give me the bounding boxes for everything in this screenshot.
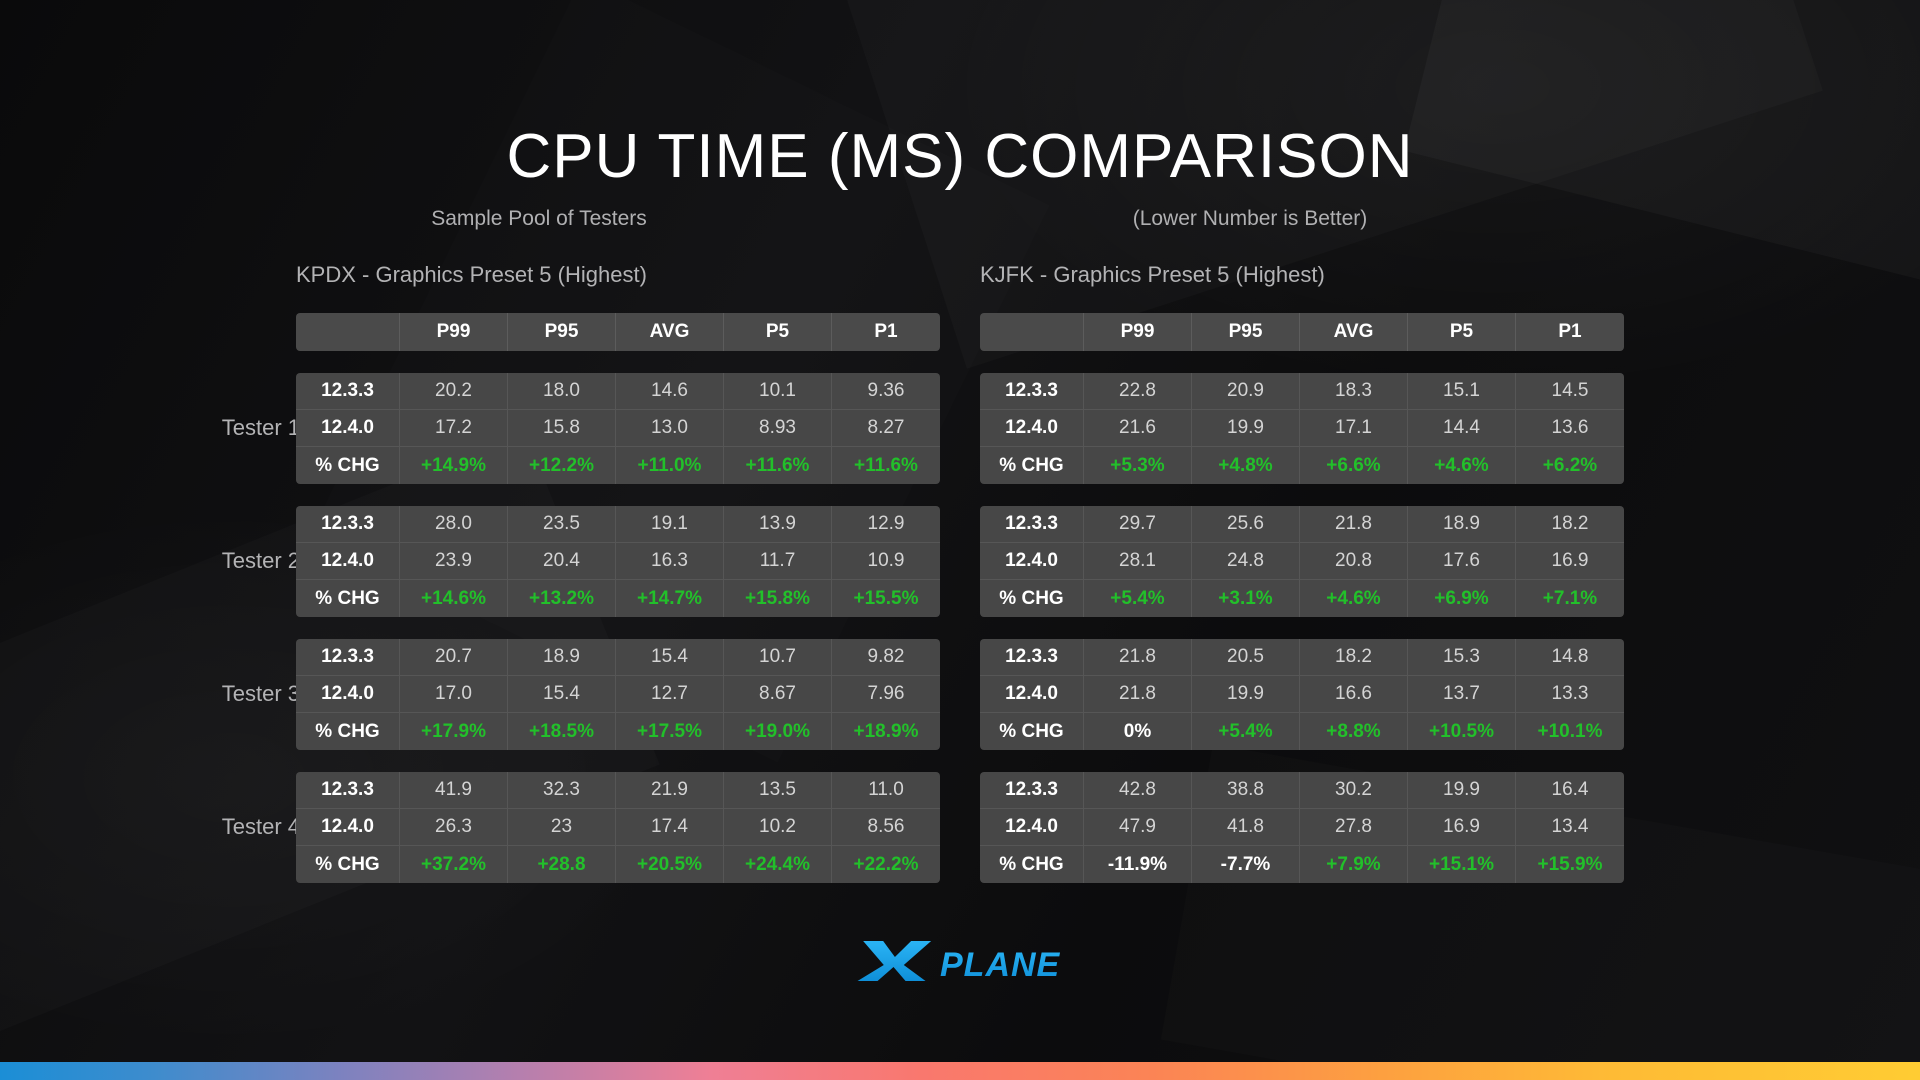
cell-chg-p1: +6.2% — [1516, 447, 1624, 484]
tester-block-1: 12.3.322.820.918.315.114.512.4.021.619.9… — [980, 373, 1624, 484]
cell-old-p5: 13.9 — [724, 506, 832, 543]
column-header-avg: AVG — [1300, 313, 1408, 351]
cell-old-avg: 18.2 — [1300, 639, 1408, 676]
row-label-chg: % CHG — [296, 447, 400, 484]
tester-block-4: 12.3.342.838.830.219.916.412.4.047.941.8… — [980, 772, 1624, 883]
cell-chg-p95: +4.8% — [1192, 447, 1300, 484]
cell-new-p1: 10.9 — [832, 543, 940, 580]
row-label-chg: % CHG — [296, 846, 400, 883]
cell-new-p99: 21.8 — [1084, 676, 1192, 713]
cell-new-p1: 16.9 — [1516, 543, 1624, 580]
table-row: % CHG+14.6%+13.2%+14.7%+15.8%+15.5% — [296, 580, 940, 617]
table-row: % CHG+37.2%+28.8+20.5%+24.4%+22.2% — [296, 846, 940, 883]
cell-chg-p95: +18.5% — [508, 713, 616, 750]
cell-chg-p99: +5.3% — [1084, 447, 1192, 484]
row-label-old: 12.3.3 — [296, 373, 400, 410]
cell-old-p99: 41.9 — [400, 772, 508, 809]
column-header-row: P99P95AVGP5P1 — [296, 313, 940, 351]
table-row: 12.4.023.920.416.311.710.9 — [296, 543, 940, 580]
cell-chg-avg: +14.7% — [616, 580, 724, 617]
cell-chg-p95: -7.7% — [1192, 846, 1300, 883]
row-label-new: 12.4.0 — [980, 676, 1084, 713]
column-header-p5: P5 — [724, 313, 832, 351]
cell-old-p95: 38.8 — [1192, 772, 1300, 809]
table-row: % CHG+17.9%+18.5%+17.5%+19.0%+18.9% — [296, 713, 940, 750]
column-header-avg: AVG — [616, 313, 724, 351]
tester-block-2: 12.3.329.725.621.818.918.212.4.028.124.8… — [980, 506, 1624, 617]
table-row: % CHG+5.3%+4.8%+6.6%+4.6%+6.2% — [980, 447, 1624, 484]
cell-new-p95: 24.8 — [1192, 543, 1300, 580]
cell-chg-p95: +12.2% — [508, 447, 616, 484]
cell-old-avg: 21.8 — [1300, 506, 1408, 543]
cell-new-p99: 23.9 — [400, 543, 508, 580]
row-label-chg: % CHG — [980, 580, 1084, 617]
table-row: 12.4.017.015.412.78.677.96 — [296, 676, 940, 713]
row-label-new: 12.4.0 — [296, 809, 400, 846]
cell-old-avg: 18.3 — [1300, 373, 1408, 410]
table-row: 12.4.028.124.820.817.616.9 — [980, 543, 1624, 580]
cell-old-p99: 28.0 — [400, 506, 508, 543]
table-row: % CHG+14.9%+12.2%+11.0%+11.6%+11.6% — [296, 447, 940, 484]
cell-new-avg: 17.4 — [616, 809, 724, 846]
table-row: 12.3.320.718.915.410.79.82 — [296, 639, 940, 676]
cell-new-p95: 15.4 — [508, 676, 616, 713]
table-row: 12.3.329.725.621.818.918.2 — [980, 506, 1624, 543]
table-row: 12.4.021.819.916.613.713.3 — [980, 676, 1624, 713]
column-header-p95: P95 — [508, 313, 616, 351]
cell-chg-p5: +10.5% — [1408, 713, 1516, 750]
tester-block-1: 12.3.320.218.014.610.19.3612.4.017.215.8… — [296, 373, 940, 484]
cell-chg-avg: +4.6% — [1300, 580, 1408, 617]
cell-chg-p1: +11.6% — [832, 447, 940, 484]
column-header-p95: P95 — [1192, 313, 1300, 351]
row-label-new: 12.4.0 — [980, 809, 1084, 846]
cell-old-p1: 9.36 — [832, 373, 940, 410]
cell-chg-p99: -11.9% — [1084, 846, 1192, 883]
cell-chg-p99: +14.9% — [400, 447, 508, 484]
cell-old-p5: 18.9 — [1408, 506, 1516, 543]
row-label-new: 12.4.0 — [296, 543, 400, 580]
tester-block-3: 12.3.321.820.518.215.314.812.4.021.819.9… — [980, 639, 1624, 750]
cell-new-p95: 20.4 — [508, 543, 616, 580]
row-label-old: 12.3.3 — [296, 506, 400, 543]
cell-chg-p95: +5.4% — [1192, 713, 1300, 750]
cell-chg-p99: +5.4% — [1084, 580, 1192, 617]
column-header-row: P99P95AVGP5P1 — [980, 313, 1624, 351]
row-label-chg: % CHG — [980, 447, 1084, 484]
cell-old-p99: 29.7 — [1084, 506, 1192, 543]
row-label-old: 12.3.3 — [980, 639, 1084, 676]
bottom-gradient-bar — [0, 1062, 1920, 1080]
cell-chg-p5: +15.1% — [1408, 846, 1516, 883]
cell-new-avg: 17.1 — [1300, 410, 1408, 447]
cell-new-p95: 23 — [508, 809, 616, 846]
cell-new-p5: 8.67 — [724, 676, 832, 713]
cell-new-p95: 19.9 — [1192, 410, 1300, 447]
cell-old-p95: 20.9 — [1192, 373, 1300, 410]
cell-old-p99: 42.8 — [1084, 772, 1192, 809]
cell-chg-p95: +3.1% — [1192, 580, 1300, 617]
cell-chg-avg: +20.5% — [616, 846, 724, 883]
table-row: 12.3.328.023.519.113.912.9 — [296, 506, 940, 543]
cell-new-p1: 13.6 — [1516, 410, 1624, 447]
cell-old-p95: 23.5 — [508, 506, 616, 543]
tester-block-4: 12.3.341.932.321.913.511.012.4.026.32317… — [296, 772, 940, 883]
cell-new-p95: 19.9 — [1192, 676, 1300, 713]
cell-old-p99: 20.7 — [400, 639, 508, 676]
cell-chg-p99: +17.9% — [400, 713, 508, 750]
row-label-new: 12.4.0 — [296, 410, 400, 447]
panel-kjfk: KJFK - Graphics Preset 5 (Highest)P99P95… — [980, 262, 1624, 905]
row-label-old: 12.3.3 — [296, 772, 400, 809]
cell-new-p5: 13.7 — [1408, 676, 1516, 713]
cell-old-p95: 20.5 — [1192, 639, 1300, 676]
cell-old-p1: 14.8 — [1516, 639, 1624, 676]
cell-new-p5: 10.2 — [724, 809, 832, 846]
cell-new-p95: 41.8 — [1192, 809, 1300, 846]
xplane-logo: PLANE — [0, 930, 1920, 987]
column-header-blank — [296, 313, 400, 351]
tester-label-3: Tester 3 — [150, 681, 300, 707]
cell-chg-p5: +4.6% — [1408, 447, 1516, 484]
cell-old-p5: 10.1 — [724, 373, 832, 410]
cell-chg-p1: +7.1% — [1516, 580, 1624, 617]
cell-chg-p5: +19.0% — [724, 713, 832, 750]
table-row: 12.4.047.941.827.816.913.4 — [980, 809, 1624, 846]
cell-old-p1: 12.9 — [832, 506, 940, 543]
cell-old-p95: 32.3 — [508, 772, 616, 809]
cell-old-p99: 21.8 — [1084, 639, 1192, 676]
cell-new-p5: 11.7 — [724, 543, 832, 580]
table-row: 12.3.341.932.321.913.511.0 — [296, 772, 940, 809]
cell-old-p1: 14.5 — [1516, 373, 1624, 410]
cell-new-p99: 28.1 — [1084, 543, 1192, 580]
cell-old-p5: 15.3 — [1408, 639, 1516, 676]
column-header-p1: P1 — [832, 313, 940, 351]
cell-chg-avg: +8.8% — [1300, 713, 1408, 750]
cell-new-avg: 13.0 — [616, 410, 724, 447]
table-row: % CHG+5.4%+3.1%+4.6%+6.9%+7.1% — [980, 580, 1624, 617]
cell-old-avg: 19.1 — [616, 506, 724, 543]
cell-old-p5: 15.1 — [1408, 373, 1516, 410]
cell-old-p95: 18.0 — [508, 373, 616, 410]
cell-new-avg: 16.3 — [616, 543, 724, 580]
cell-old-avg: 30.2 — [1300, 772, 1408, 809]
cell-old-p5: 19.9 — [1408, 772, 1516, 809]
column-header-p1: P1 — [1516, 313, 1624, 351]
table-row: 12.4.026.32317.410.28.56 — [296, 809, 940, 846]
cell-old-p99: 22.8 — [1084, 373, 1192, 410]
cell-new-p1: 13.3 — [1516, 676, 1624, 713]
table-row: 12.3.320.218.014.610.19.36 — [296, 373, 940, 410]
cell-new-p99: 26.3 — [400, 809, 508, 846]
panel-caption: KPDX - Graphics Preset 5 (Highest) — [296, 262, 940, 288]
row-label-chg: % CHG — [296, 713, 400, 750]
cell-old-p1: 18.2 — [1516, 506, 1624, 543]
cell-chg-p99: 0% — [1084, 713, 1192, 750]
cell-chg-avg: +17.5% — [616, 713, 724, 750]
cell-chg-p1: +22.2% — [832, 846, 940, 883]
table-row: 12.3.342.838.830.219.916.4 — [980, 772, 1624, 809]
cell-chg-p1: +18.9% — [832, 713, 940, 750]
column-header-p5: P5 — [1408, 313, 1516, 351]
row-label-chg: % CHG — [296, 580, 400, 617]
table-row: 12.3.321.820.518.215.314.8 — [980, 639, 1624, 676]
cell-chg-p99: +37.2% — [400, 846, 508, 883]
cell-old-avg: 21.9 — [616, 772, 724, 809]
cell-new-p1: 8.56 — [832, 809, 940, 846]
cell-old-p1: 16.4 — [1516, 772, 1624, 809]
row-label-old: 12.3.3 — [296, 639, 400, 676]
row-label-chg: % CHG — [980, 713, 1084, 750]
cell-new-avg: 12.7 — [616, 676, 724, 713]
row-label-new: 12.4.0 — [296, 676, 400, 713]
row-label-old: 12.3.3 — [980, 506, 1084, 543]
tester-block-3: 12.3.320.718.915.410.79.8212.4.017.015.4… — [296, 639, 940, 750]
cell-chg-avg: +6.6% — [1300, 447, 1408, 484]
subtitle-left: Sample Pool of Testers — [339, 207, 739, 231]
cell-new-p1: 8.27 — [832, 410, 940, 447]
cell-old-p95: 18.9 — [508, 639, 616, 676]
panel-caption: KJFK - Graphics Preset 5 (Highest) — [980, 262, 1624, 288]
table-row: % CHG0%+5.4%+8.8%+10.5%+10.1% — [980, 713, 1624, 750]
cell-new-p99: 21.6 — [1084, 410, 1192, 447]
cell-old-p1: 11.0 — [832, 772, 940, 809]
cell-chg-p5: +11.6% — [724, 447, 832, 484]
logo-wordmark: PLANE — [940, 946, 1061, 982]
row-label-old: 12.3.3 — [980, 373, 1084, 410]
cell-new-p95: 15.8 — [508, 410, 616, 447]
cell-new-p5: 8.93 — [724, 410, 832, 447]
cell-new-p99: 47.9 — [1084, 809, 1192, 846]
table-row: 12.4.021.619.917.114.413.6 — [980, 410, 1624, 447]
table-row: 12.4.017.215.813.08.938.27 — [296, 410, 940, 447]
tester-label-1: Tester 1 — [150, 415, 300, 441]
cell-chg-p95: +28.8 — [508, 846, 616, 883]
row-label-chg: % CHG — [980, 846, 1084, 883]
table-row: 12.3.322.820.918.315.114.5 — [980, 373, 1624, 410]
cell-chg-p5: +15.8% — [724, 580, 832, 617]
cell-chg-p1: +10.1% — [1516, 713, 1624, 750]
cell-old-p5: 13.5 — [724, 772, 832, 809]
cell-new-avg: 20.8 — [1300, 543, 1408, 580]
column-header-p99: P99 — [400, 313, 508, 351]
cell-new-p99: 17.0 — [400, 676, 508, 713]
cell-chg-avg: +7.9% — [1300, 846, 1408, 883]
row-label-new: 12.4.0 — [980, 410, 1084, 447]
cell-new-p1: 7.96 — [832, 676, 940, 713]
page-title: CPU TIME (MS) COMPARISON — [0, 126, 1920, 188]
cell-old-p95: 25.6 — [1192, 506, 1300, 543]
cell-old-p5: 10.7 — [724, 639, 832, 676]
column-header-p99: P99 — [1084, 313, 1192, 351]
cell-chg-avg: +11.0% — [616, 447, 724, 484]
row-label-old: 12.3.3 — [980, 772, 1084, 809]
cell-old-p1: 9.82 — [832, 639, 940, 676]
cell-new-p5: 14.4 — [1408, 410, 1516, 447]
cell-new-p5: 17.6 — [1408, 543, 1516, 580]
tester-block-2: 12.3.328.023.519.113.912.912.4.023.920.4… — [296, 506, 940, 617]
cell-chg-p5: +6.9% — [1408, 580, 1516, 617]
cell-new-p99: 17.2 — [400, 410, 508, 447]
cell-chg-p95: +13.2% — [508, 580, 616, 617]
tester-label-2: Tester 2 — [150, 548, 300, 574]
cell-new-avg: 16.6 — [1300, 676, 1408, 713]
subtitle-right: (Lower Number is Better) — [1000, 207, 1500, 231]
cell-chg-p1: +15.5% — [832, 580, 940, 617]
row-label-new: 12.4.0 — [980, 543, 1084, 580]
cell-chg-p1: +15.9% — [1516, 846, 1624, 883]
cell-old-avg: 14.6 — [616, 373, 724, 410]
cell-new-p1: 13.4 — [1516, 809, 1624, 846]
cell-old-p99: 20.2 — [400, 373, 508, 410]
table-row: % CHG-11.9%-7.7%+7.9%+15.1%+15.9% — [980, 846, 1624, 883]
cell-chg-p99: +14.6% — [400, 580, 508, 617]
cell-old-avg: 15.4 — [616, 639, 724, 676]
panel-kpdx: KPDX - Graphics Preset 5 (Highest)P99P95… — [296, 262, 940, 905]
tester-label-4: Tester 4 — [150, 814, 300, 840]
cell-chg-p5: +24.4% — [724, 846, 832, 883]
cell-new-p5: 16.9 — [1408, 809, 1516, 846]
infographic-canvas: CPU TIME (MS) COMPARISON Sample Pool of … — [0, 0, 1920, 1080]
cell-new-avg: 27.8 — [1300, 809, 1408, 846]
column-header-blank — [980, 313, 1084, 351]
